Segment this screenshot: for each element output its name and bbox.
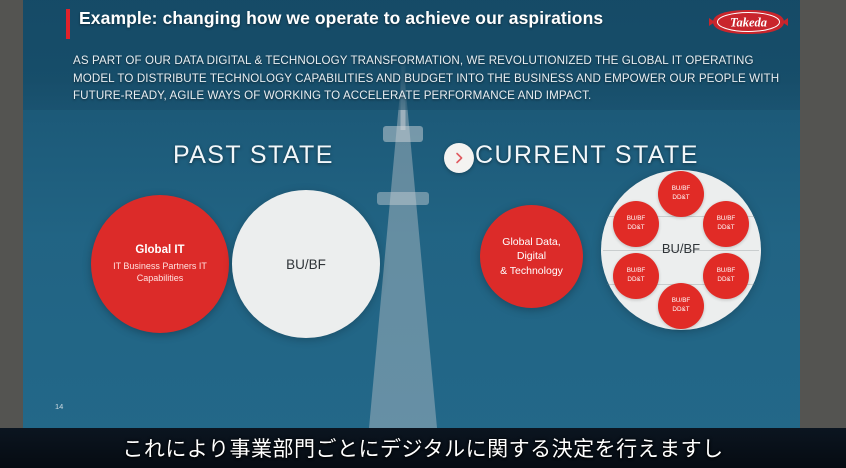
current-gdt-circle: Global Data, Digital & Technology [480,205,583,308]
cluster-node-line-2: DD&T [627,224,644,233]
past-bubf-circle: BU/BF [232,190,380,338]
current-bubf-cluster: BU/BF BU/BF DD&T BU/BF DD&T BU/BF DD&T B… [601,170,761,330]
cluster-node-line-1: BU/BF [717,215,736,224]
past-global-it-subtitle: IT Business Partners IT Capabilities [91,260,229,284]
chevron-right-icon[interactable] [444,143,474,173]
cluster-node: BU/BF DD&T [658,283,704,329]
gdt-line-2: Digital [500,249,563,264]
takeda-logo: Takeda [709,7,788,37]
cluster-node-line-1: BU/BF [627,215,646,224]
gdt-line-3: & Technology [500,264,563,279]
cluster-node: BU/BF DD&T [613,253,659,299]
cluster-node-line-1: BU/BF [672,185,691,194]
slide-subtitle: AS PART OF OUR DATA DIGITAL & TECHNOLOGY… [73,52,763,105]
letterbox-left [0,0,23,428]
cluster-node: BU/BF DD&T [703,201,749,247]
slide-title: Example: changing how we operate to achi… [79,8,603,29]
caption-subtitle: これにより事業部門ごとにデジタルに関する決定を行えますし [0,428,846,468]
past-state-heading: PAST STATE [173,141,334,170]
past-bubf-label: BU/BF [286,257,326,272]
current-state-heading: CURRENT STATE [475,141,699,170]
cluster-node: BU/BF DD&T [703,253,749,299]
cluster-node-line-2: DD&T [672,306,689,315]
letterbox-right [800,0,846,428]
screen: Example: changing how we operate to achi… [0,0,846,468]
cluster-node-line-2: DD&T [672,194,689,203]
past-global-it-circle: Global IT IT Business Partners IT Capabi… [91,195,229,333]
past-global-it-title: Global IT [135,244,184,256]
gdt-line-1: Global Data, [500,235,563,250]
cluster-node-line-1: BU/BF [627,267,646,276]
subtitle-line-3: FUTURE-READY, AGILE WAYS OF WORKING TO A… [73,87,763,105]
cluster-node-line-1: BU/BF [717,267,736,276]
cluster-node-line-2: DD&T [717,276,734,285]
subtitle-line-2: MODEL TO DISTRIBUTE TECHNOLOGY CAPABILIT… [73,70,763,88]
cluster-node: BU/BF DD&T [613,201,659,247]
takeda-logo-text: Takeda [730,15,767,29]
cluster-node-line-1: BU/BF [672,297,691,306]
title-accent-bar [66,9,70,39]
subtitle-line-1: AS PART OF OUR DATA DIGITAL & TECHNOLOGY… [73,52,763,70]
page-number: 14 [55,402,63,411]
cluster-node-line-2: DD&T [627,276,644,285]
cluster-node-line-2: DD&T [717,224,734,233]
presentation-slide: Example: changing how we operate to achi… [23,0,800,428]
cluster-node: BU/BF DD&T [658,171,704,217]
